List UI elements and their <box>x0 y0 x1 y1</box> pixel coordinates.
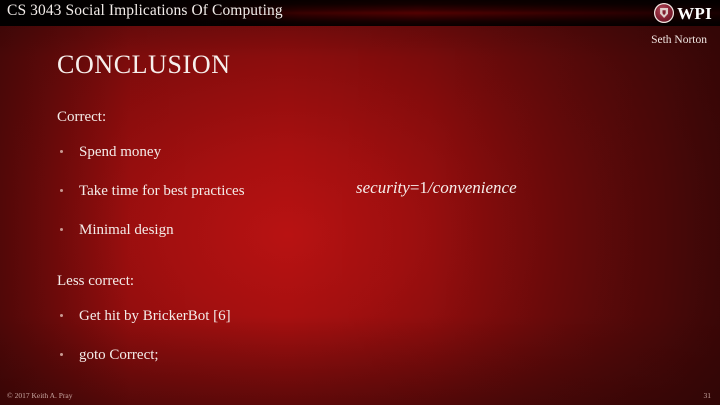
copyright-notice: © 2017 Keith A. Pray <box>7 391 73 400</box>
bullet-dot-icon <box>60 353 63 356</box>
page-title: CONCLUSION <box>57 50 231 80</box>
list-item-label: goto Correct; <box>79 347 159 363</box>
slide-body: Correct: Spend money Take time for best … <box>57 110 357 387</box>
list-item: Take time for best practices <box>57 184 357 199</box>
list-item-label: Spend money <box>79 144 161 160</box>
wpi-wordmark: WPI <box>677 5 712 22</box>
group-lead-label: Less correct: <box>57 274 357 289</box>
wpi-seal-icon <box>654 3 674 23</box>
equation-left-term: security <box>356 178 410 197</box>
page-number: 31 <box>704 391 712 400</box>
list-item: Minimal design <box>57 223 357 238</box>
bullet-dot-icon <box>60 189 63 192</box>
list-item: Get hit by BrickerBot [6] <box>57 309 357 324</box>
list-item-label: Take time for best practices <box>79 183 245 199</box>
bullet-group-correct: Correct: Spend money Take time for best … <box>57 110 357 238</box>
bullet-dot-icon <box>60 314 63 317</box>
list-item-label: Minimal design <box>79 222 174 238</box>
list-item-label: Get hit by BrickerBot [6] <box>79 308 231 324</box>
list-item: goto Correct; <box>57 348 357 363</box>
bullet-dot-icon <box>60 228 63 231</box>
wpi-logo: WPI <box>654 1 712 25</box>
bullet-dot-icon <box>60 150 63 153</box>
list-item: Spend money <box>57 145 357 160</box>
bullet-group-less-correct: Less correct: Get hit by BrickerBot [6] … <box>57 274 357 363</box>
bullet-list-correct: Spend money Take time for best practices… <box>57 145 357 238</box>
bullet-list-less-correct: Get hit by BrickerBot [6] goto Correct; <box>57 309 357 363</box>
security-equation: security=1/convenience <box>356 178 517 198</box>
group-lead-label: Correct: <box>57 110 357 125</box>
equation-numerator: 1 <box>419 178 428 197</box>
shield-icon <box>660 8 668 18</box>
course-title: CS 3043 Social Implications Of Computing <box>7 2 283 20</box>
presentation-slide: CS 3043 Social Implications Of Computing… <box>0 0 720 405</box>
equation-operator: = <box>410 178 420 197</box>
equation-denominator: convenience <box>433 178 517 197</box>
presenter-name: Seth Norton <box>651 34 707 46</box>
